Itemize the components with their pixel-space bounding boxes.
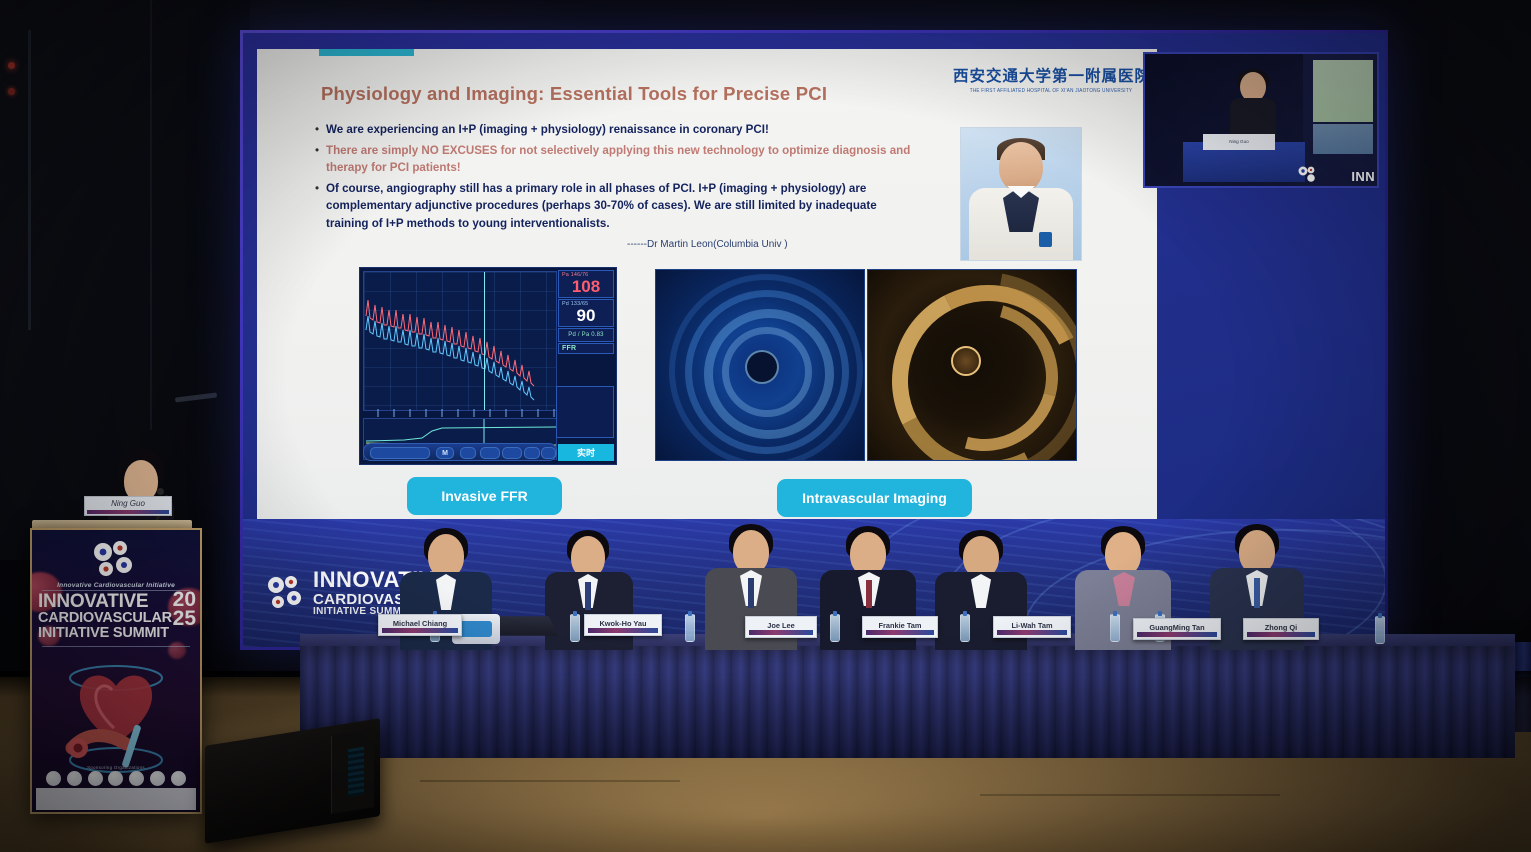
banner-year: 20 25 (173, 590, 196, 629)
ffr-readout: FFR 0.83 (558, 343, 614, 354)
nameplate-frankie-tam: Frankie Tam (862, 616, 938, 638)
chart-cursor[interactable] (484, 272, 485, 410)
pip-side-screen-lower (1313, 124, 1373, 154)
settings-icon[interactable] (460, 447, 476, 459)
picture-in-picture-feed: Ning Guo INN (1143, 52, 1379, 188)
slide-bullet-list: • We are experiencing an I+P (imaging + … (315, 121, 915, 236)
hospital-logo: 西安交通大学第一附属医院 THE FIRST AFFILIATED HOSPIT… (953, 69, 1149, 93)
ivus-image (655, 269, 865, 461)
caption-pill-intravascular-imaging: Intravascular Imaging (777, 479, 972, 517)
nameplate-sponsor-strip (382, 628, 458, 633)
wall-seam (150, 0, 152, 430)
water-bottle (685, 614, 695, 642)
bullet-marker: • (315, 142, 326, 177)
skirt-shading (300, 646, 1515, 758)
nameplate-sponsor-strip (866, 630, 934, 635)
water-bottle (960, 614, 970, 642)
sponsor-icon (88, 771, 103, 786)
microphone-head-icon (157, 488, 164, 495)
pd-pa-ratio: Pd / Pa 0.83 (558, 328, 614, 342)
pa-readout: Pa 146/76 108 (558, 270, 614, 298)
toolbar-button[interactable] (370, 447, 430, 459)
banner-line-2: CARDIOVASCULAR (38, 611, 194, 626)
conference-stage-scene: Physiology and Imaging: Essential Tools … (0, 0, 1531, 852)
scanner-screen (460, 621, 492, 637)
oct-image (867, 269, 1077, 461)
bullet-item: • There are simply NO EXCUSES for not se… (315, 142, 915, 177)
sponsor-icon (171, 771, 186, 786)
ffr-measurement-table (556, 386, 614, 438)
water-bottle (570, 614, 580, 642)
nameplate-guangming-tan: GuangMing Tan (1133, 618, 1221, 640)
banner-sponsor-icons (46, 770, 186, 786)
slide-accent-bar (319, 49, 414, 56)
nameplate-joe-lee: Joe Lee (745, 616, 817, 638)
nameplate-text: Kwok-Ho Yau (585, 615, 661, 627)
slide-attribution: ------Dr Martin Leon(Columbia Univ ) (627, 239, 788, 250)
pa-value: 108 (562, 278, 610, 296)
nameplate-text: Michael Chiang (379, 615, 461, 627)
podium-nameplate: Ning Guo (84, 496, 172, 516)
presentation-slide: Physiology and Imaging: Essential Tools … (257, 49, 1157, 519)
banner-sponsor-logos (36, 788, 196, 810)
ffr-monitor-image: M Pa 146/76 108 Pd 133/65 (359, 267, 617, 465)
portrait-photo (960, 127, 1082, 261)
water-bottle (1375, 616, 1385, 644)
mode-button[interactable]: M (436, 447, 454, 459)
ffr-label: FFR (562, 345, 610, 352)
ivus-catheter-core (745, 350, 779, 384)
ffr-toolbar[interactable]: M (363, 443, 557, 461)
banner-line-3: INITIATIVE SUMMIT (38, 626, 194, 641)
nameplate-text: Zhong Qi (1244, 619, 1318, 631)
chart-x-axis (363, 409, 555, 417)
indicator-light-icon (8, 88, 15, 95)
nameplate-sponsor-strip (1137, 632, 1217, 637)
bullet-text: Of course, angiography still has a prima… (326, 180, 915, 233)
nameplate-kwok-ho-yau: Kwok-Ho Yau (584, 614, 662, 636)
portrait-badge (1039, 232, 1052, 247)
nameplate-text: Joe Lee (746, 617, 816, 629)
nameplate-sponsor-strip (1247, 632, 1315, 637)
banner-title: INNOVATIVE CARDIOVASCULAR INITIATIVE SUM… (38, 592, 194, 640)
next-icon[interactable] (541, 447, 556, 459)
pressure-waveform (364, 272, 556, 410)
sponsor-icon (108, 771, 123, 786)
nameplate-text: Frankie Tam (863, 617, 937, 629)
pd-value: 90 (562, 307, 610, 325)
nameplate-sponsor-strip (997, 630, 1067, 635)
nameplate-text: Li-Wah Tam (994, 617, 1070, 629)
sponsor-icon (46, 771, 61, 786)
pip-nameplate: Ning Guo (1203, 134, 1275, 150)
ffr-pressure-chart (363, 271, 557, 411)
speaker-grill (348, 747, 364, 798)
indicator-light-icon (8, 62, 15, 69)
nameplate-michael-chiang: Michael Chiang (378, 614, 462, 636)
bullet-text: There are simply NO EXCUSES for not sele… (326, 142, 915, 177)
nameplate-sponsor-strip (87, 510, 169, 514)
banner-year-bottom: 25 (173, 609, 196, 628)
water-bottle (1110, 614, 1120, 642)
ffr-readout-panel: Pa 146/76 108 Pd 133/65 90 Pd / Pa 0.83 … (558, 270, 614, 355)
nameplate-text: GuangMing Tan (1134, 619, 1220, 631)
banner-gear-icon (90, 538, 138, 580)
bullet-marker: • (315, 180, 326, 233)
conference-banner: Innovative Cardiovascular Initiative INN… (30, 528, 202, 814)
nameplate-zhong-qi: Zhong Qi (1243, 618, 1319, 640)
sponsor-icon (150, 771, 165, 786)
caption-pill-invasive-ffr: Invasive FFR (407, 477, 562, 515)
pip-gear-icon (1297, 164, 1317, 184)
pip-side-screen (1313, 60, 1373, 122)
nameplate-li-wah-tam: Li-Wah Tam (993, 616, 1071, 638)
zoom-in-icon[interactable] (480, 447, 500, 459)
realtime-button[interactable]: 实时 (558, 444, 614, 461)
sponsor-icon (67, 771, 82, 786)
pip-brand-text: INN (1351, 169, 1375, 184)
pip-nameplate-text: Ning Guo (1203, 134, 1275, 150)
banner-line-1: INNOVATIVE (38, 592, 194, 611)
nameplate-sponsor-strip (749, 630, 813, 635)
water-bottle (830, 614, 840, 642)
wall-seam (28, 30, 31, 330)
sponsor-icon (129, 771, 144, 786)
bullet-text: We are experiencing an I+P (imaging + ph… (326, 121, 769, 139)
oct-catheter-core (951, 346, 981, 376)
ici-gear-icon (263, 572, 305, 614)
pd-readout: Pd 133/65 90 (558, 299, 614, 327)
podium-nameplate-text: Ning Guo (85, 497, 171, 510)
hospital-name-english: THE FIRST AFFILIATED HOSPITAL OF XI'AN J… (953, 87, 1149, 93)
ratio-label: Pd / Pa 0.83 (562, 332, 610, 338)
slide-title: Physiology and Imaging: Essential Tools … (321, 83, 827, 105)
bullet-item: • Of course, angiography still has a pri… (315, 180, 915, 233)
zoom-out-icon[interactable] (502, 447, 522, 459)
panel-table-skirt (300, 646, 1515, 758)
portrait-head (999, 142, 1043, 192)
prev-icon[interactable] (524, 447, 540, 459)
hospital-name-chinese: 西安交通大学第一附属医院 (953, 69, 1149, 85)
bullet-marker: • (315, 121, 326, 139)
bullet-item: • We are experiencing an I+P (imaging + … (315, 121, 915, 139)
nameplate-sponsor-strip (588, 628, 658, 633)
